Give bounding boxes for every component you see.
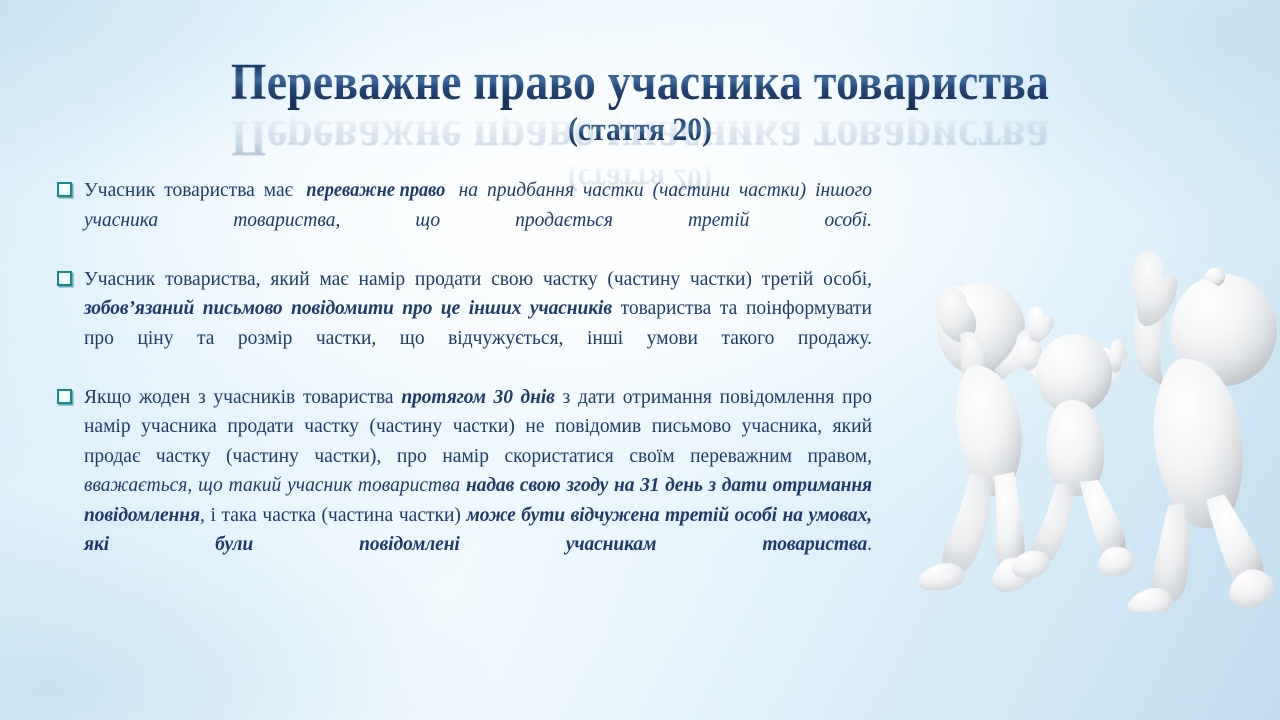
figure-middle-arms-v xyxy=(1012,334,1135,578)
list-item: Якщо жоден з учасників товариства протяг… xyxy=(54,383,872,590)
figure-right-arm-up xyxy=(1128,251,1277,612)
bullet-1-text: Учасник товариства має переважне право н… xyxy=(84,176,872,265)
list-item: Учасник товариства має переважне право н… xyxy=(54,176,872,265)
run-upright: , і така частка (частина частки) xyxy=(200,505,467,526)
square-outline-bullet-icon xyxy=(57,389,72,404)
run-bold-italic: переважне право xyxy=(306,176,445,206)
run-bold-italic: протягом 30 днів xyxy=(401,387,554,408)
slide-title-block: Переважне право учасника товариства (ста… xyxy=(0,56,1280,148)
run-upright: Якщо жоден з учасників товариства xyxy=(84,387,401,408)
run-bold-italic: зобов’язаний письмово повідомити про це … xyxy=(84,298,612,319)
three-3d-people-celebrating-image xyxy=(884,212,1280,612)
square-outline-bullet-icon xyxy=(57,271,72,286)
run-upright: Учасник товариства має xyxy=(84,180,302,201)
bullet-3-text: Якщо жоден з учасників товариства протяг… xyxy=(84,383,872,590)
slide-canvas: Переважне право учасника товариства (ста… xyxy=(0,0,1280,720)
list-item: Учасник товариства, який має намір прода… xyxy=(54,265,872,383)
bullet-2-text: Учасник товариства, який має намір прода… xyxy=(84,265,872,383)
square-outline-bullet-icon xyxy=(57,182,72,197)
run-upright: Учасник товариства, який має намір прода… xyxy=(84,269,872,290)
page-title: Переважне право учасника товариства xyxy=(77,56,1203,110)
run-italic: вважається, що такий учасник товариства xyxy=(84,475,466,496)
run-upright: . xyxy=(867,534,872,555)
bullet-list: Учасник товариства має переважне право н… xyxy=(54,176,872,589)
page-subtitle: (стаття 20) xyxy=(64,112,1216,148)
